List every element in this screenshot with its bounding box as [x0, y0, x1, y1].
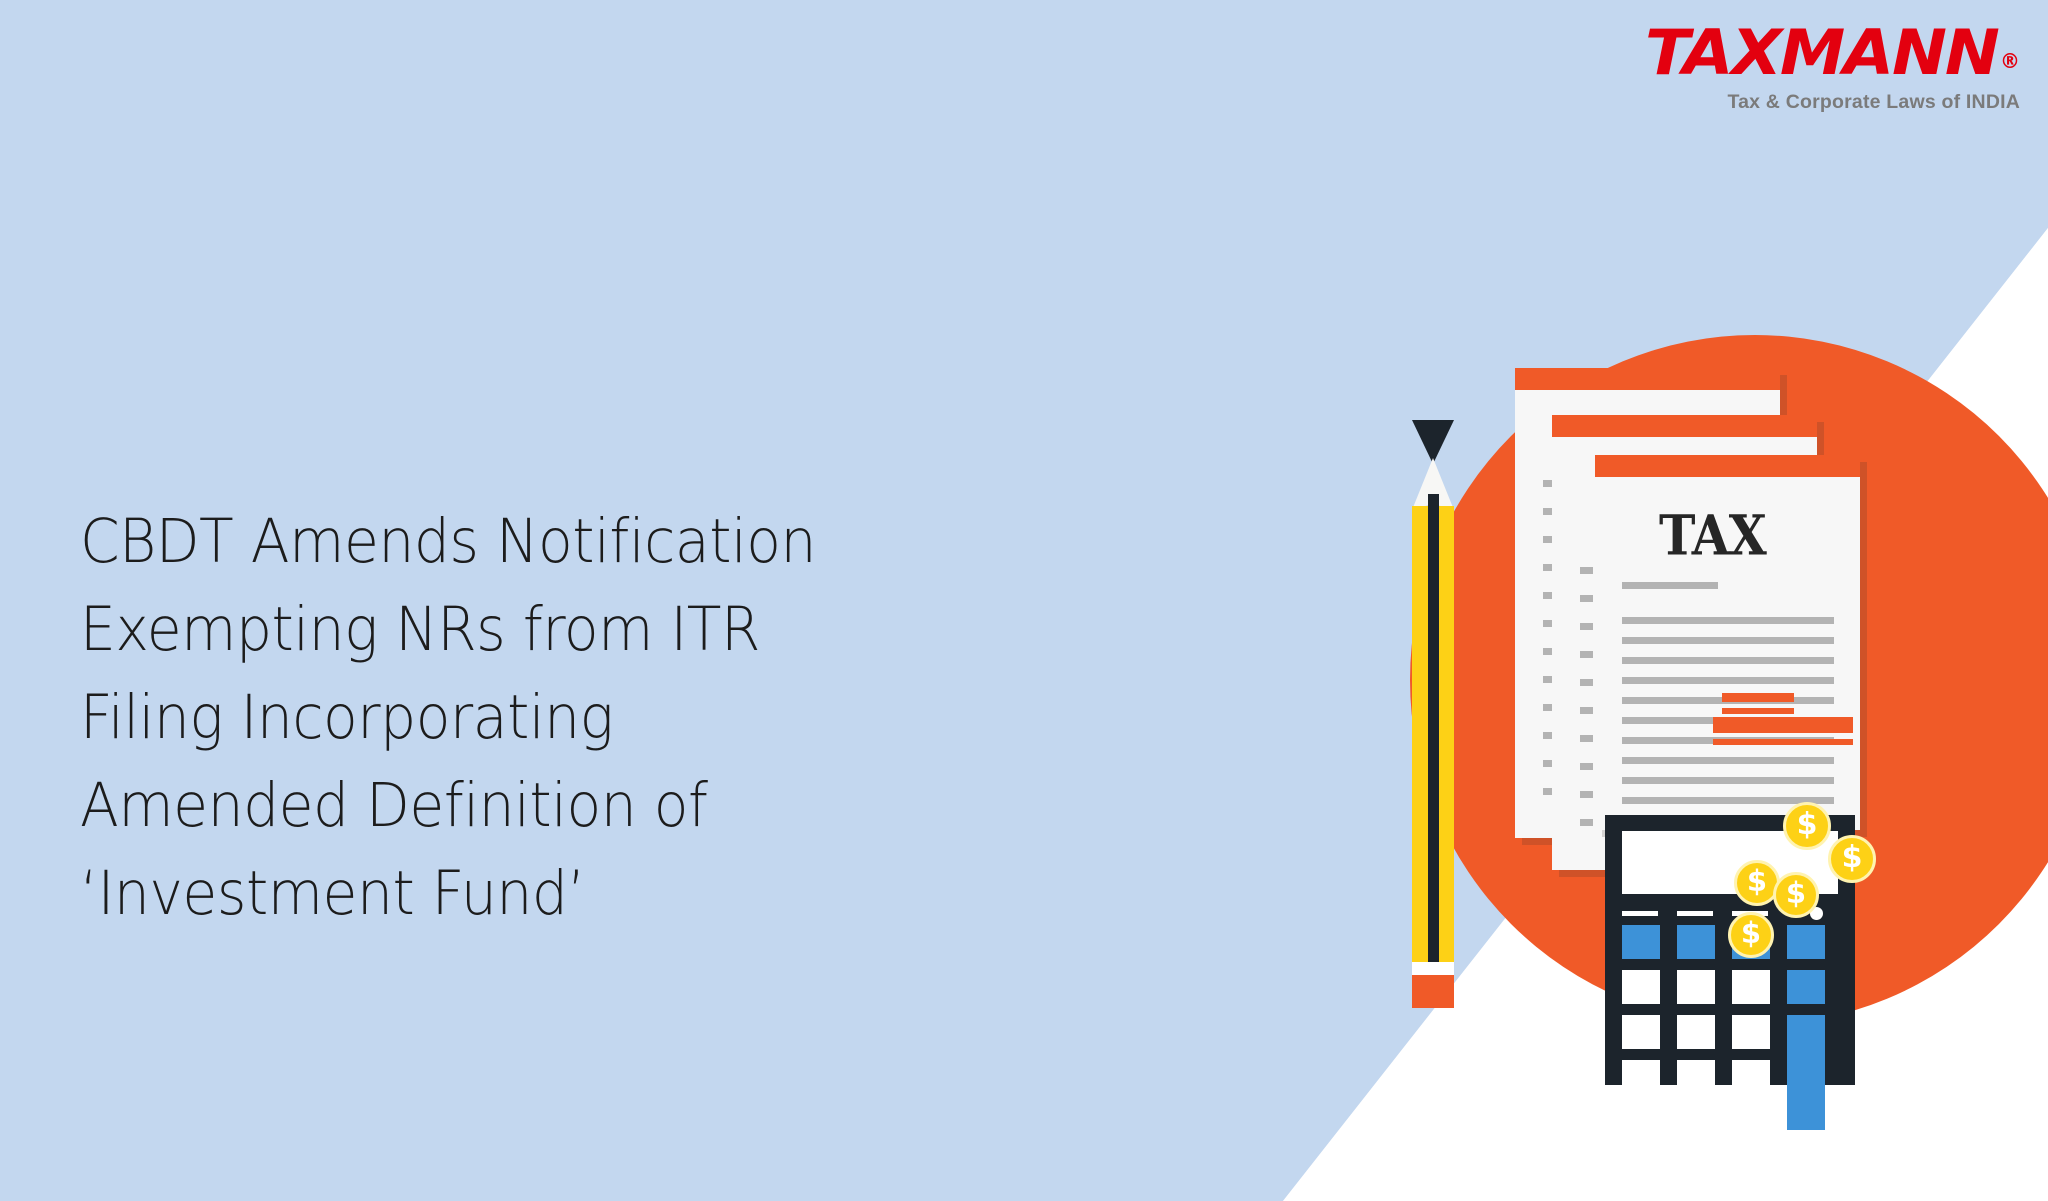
headline-line-2: Exempting NRs from ITR — [80, 586, 1029, 674]
document-header-bar — [1595, 455, 1860, 477]
registered-trademark-icon: ® — [2000, 49, 2020, 73]
calculator-indicator — [1677, 911, 1713, 916]
calculator-key — [1622, 925, 1660, 959]
document-front-tax: TAX — [1595, 455, 1860, 830]
pencil-stripe — [1428, 494, 1439, 962]
pencil-icon — [1412, 420, 1454, 1010]
calculator-key — [1677, 970, 1715, 1004]
calculator-key — [1677, 925, 1715, 959]
logo-tagline: Tax & Corporate Laws of INDIA — [1600, 91, 2020, 114]
tax-illustration: TAX — [1300, 350, 2000, 1110]
pencil-eraser — [1412, 975, 1454, 1008]
calculator-key — [1787, 970, 1825, 1004]
headline-line-3: Filing Incorporating — [80, 674, 1029, 762]
coin-icon: $ — [1773, 872, 1819, 918]
document-header-bar — [1552, 415, 1817, 437]
calculator-key — [1677, 1015, 1715, 1049]
calculator-key — [1622, 1015, 1660, 1049]
calculator-key — [1622, 1060, 1660, 1094]
calculator-indicator — [1622, 911, 1658, 916]
taxmann-logo[interactable]: TAXMANN® Tax & Corporate Laws of INDIA — [1600, 22, 2020, 114]
logo-wordmark: TAXMANN® — [1600, 22, 2020, 84]
headline-line-4: Amended Definition of — [80, 762, 1029, 850]
coin-icon: $ — [1728, 912, 1774, 958]
calculator-icon — [1605, 815, 1855, 1085]
calculator-key — [1732, 1015, 1770, 1049]
coin-icon: $ — [1783, 802, 1831, 850]
poster-canvas: TAXMANN® Tax & Corporate Laws of INDIA C… — [0, 0, 2048, 1201]
headline-line-1: CBDT Amends Notification — [80, 498, 1029, 586]
calculator-key — [1622, 970, 1660, 1004]
tax-label: TAX — [1659, 503, 1766, 568]
document-header-bar — [1515, 368, 1780, 390]
calculator-key — [1732, 970, 1770, 1004]
headline-line-5: ‘Investment Fund’ — [80, 850, 1029, 938]
pencil-graphite-tip — [1412, 420, 1454, 464]
logo-word-text: TAXMANN — [1645, 22, 1998, 84]
page-title: CBDT Amends Notification Exempting NRs f… — [80, 498, 1029, 938]
calculator-key — [1787, 925, 1825, 959]
pencil-ferrule — [1412, 962, 1454, 975]
coin-icon: $ — [1828, 835, 1876, 883]
calculator-key — [1732, 1060, 1770, 1094]
calculator-key — [1677, 1060, 1715, 1094]
calculator-key-equals — [1787, 1015, 1825, 1130]
